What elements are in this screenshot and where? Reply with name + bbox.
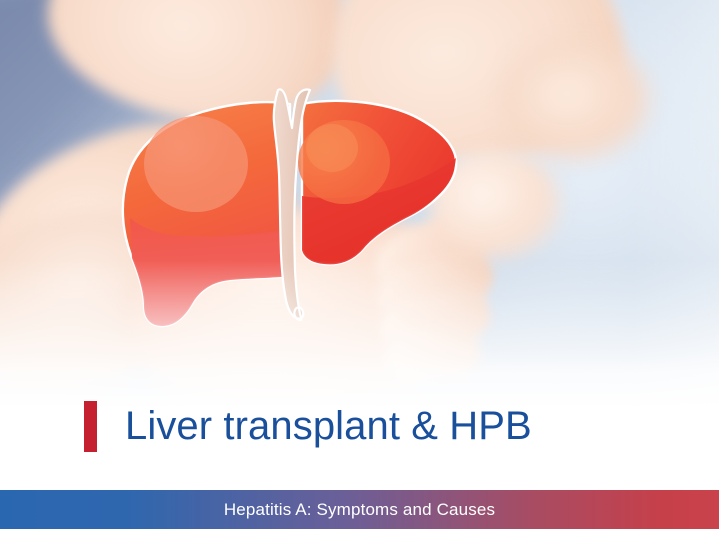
- footer-banner: Hepatitis A: Symptoms and Causes: [0, 490, 719, 529]
- hero-image: [0, 0, 719, 410]
- title-block: Liver transplant & HPB: [0, 396, 719, 456]
- page-title: Liver transplant & HPB: [125, 406, 532, 446]
- title-accent-bar: [84, 401, 97, 452]
- slide-root: Liver transplant & HPB Hepatitis A: Symp…: [0, 0, 719, 542]
- footer-banner-text: Hepatitis A: Symptoms and Causes: [224, 501, 495, 518]
- photo-bottom-fade: [0, 260, 719, 410]
- footer-whitespace: [0, 529, 719, 542]
